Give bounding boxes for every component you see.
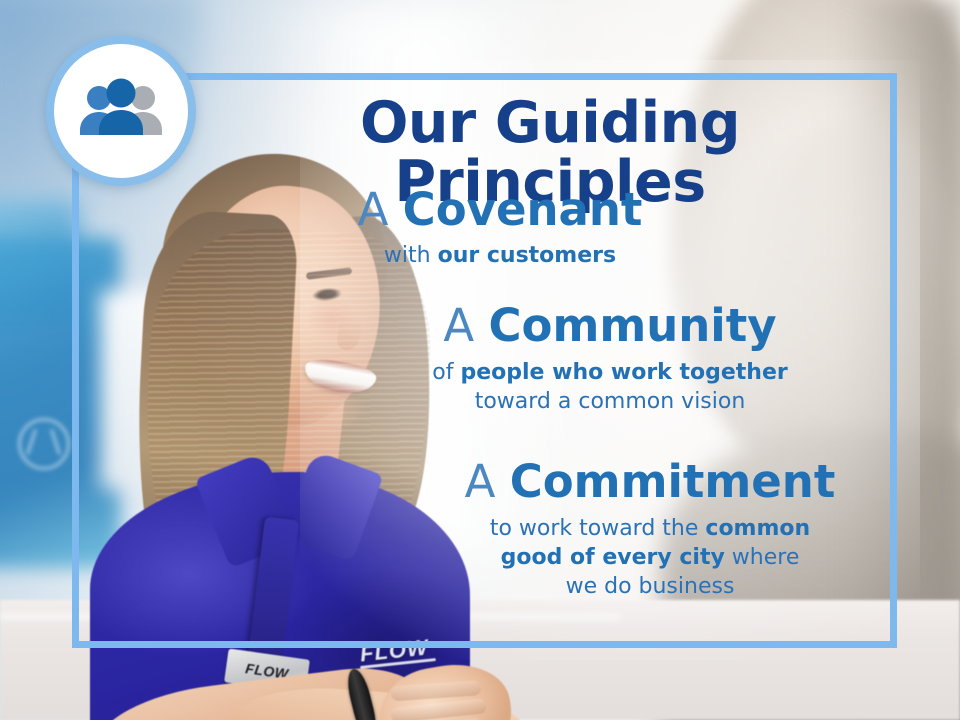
principle-article: A — [358, 183, 403, 236]
subtext-run: common — [705, 516, 810, 541]
principle-keyword: Commitment — [510, 455, 836, 508]
principle-subtext: of people who work togethertoward a comm… — [370, 358, 850, 416]
principle-block-commitment: A Commitment to work toward the commongo… — [430, 458, 870, 601]
subtext-run: where — [725, 545, 800, 570]
principle-block-covenant: A Covenant with our customers — [300, 186, 700, 270]
principle-subtext: to work toward the commongood of every c… — [430, 514, 870, 601]
principle-article: A — [443, 299, 488, 352]
principle-headline: A Covenant — [300, 186, 700, 233]
subtext-run: to work toward the — [490, 516, 706, 541]
subtext-run: our customers — [438, 243, 617, 268]
principle-subtext: with our customers — [300, 241, 700, 270]
principle-keyword: Covenant — [403, 183, 643, 236]
principle-article: A — [465, 455, 510, 508]
principle-block-community: A Community of people who work togethert… — [370, 302, 850, 416]
principle-keyword: Community — [489, 299, 777, 352]
text-content: Our Guiding Principles A Covenant with o… — [0, 0, 960, 720]
subtext-run: of — [432, 360, 460, 385]
principle-headline: A Community — [370, 302, 850, 349]
principle-headline: A Commitment — [430, 458, 870, 505]
subtext-run: good of every city — [501, 545, 725, 570]
subtext-run: with — [384, 243, 438, 268]
guiding-principles-graphic: FLOW FLOW — [0, 0, 960, 720]
subtext-run: people who work together — [460, 360, 787, 385]
subtext-run: we do business — [566, 574, 735, 599]
subtext-run: toward a common vision — [475, 389, 746, 414]
